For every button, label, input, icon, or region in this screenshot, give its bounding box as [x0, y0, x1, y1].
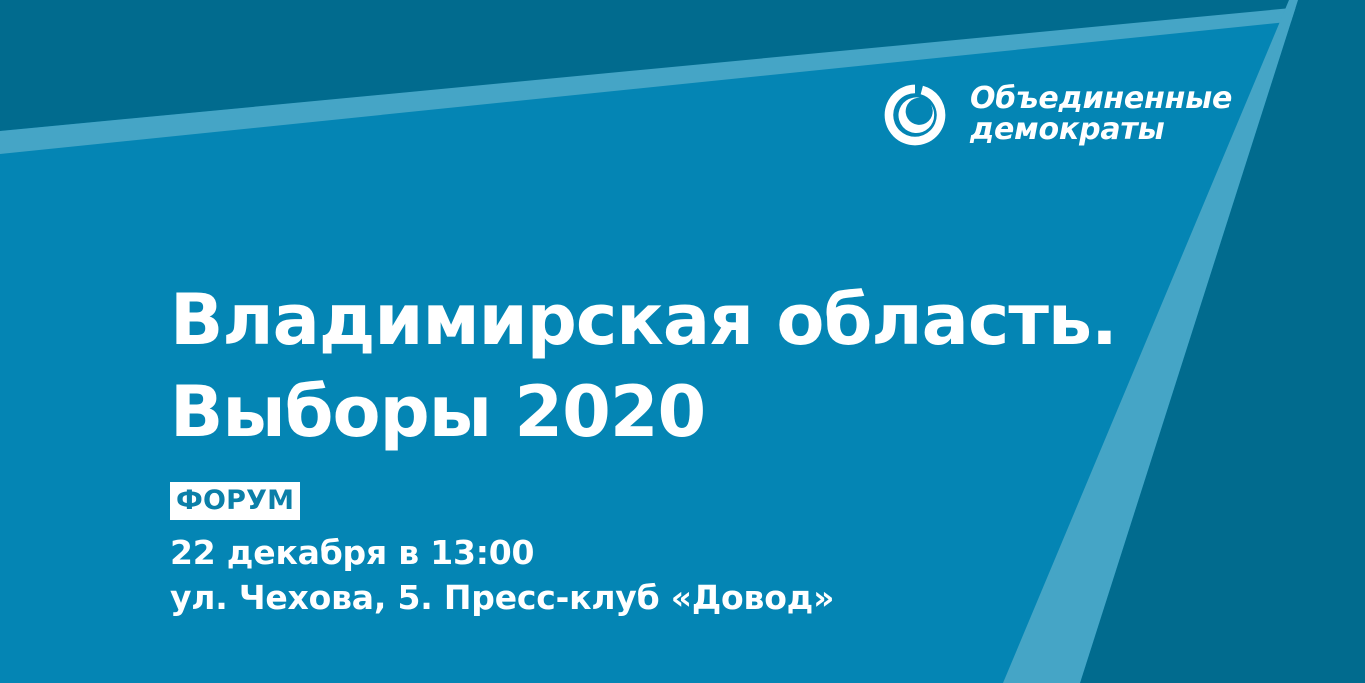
brand-logo: Объединенные демократы	[882, 82, 1232, 148]
brand-logo-line1: Объединенные	[970, 81, 1232, 116]
brand-logo-text: Объединенные демократы	[970, 84, 1232, 146]
event-type-badge: ФОРУМ	[170, 482, 300, 520]
page-title-line2: Выборы 2020	[170, 367, 1117, 459]
event-poster: Объединенные демократы Владимирская обла…	[0, 0, 1365, 683]
page-title-line1: Владимирская область.	[170, 275, 1117, 367]
event-details: ФОРУМ 22 декабря в 13:00 ул. Чехова, 5. …	[170, 482, 834, 620]
event-datetime: 22 декабря в 13:00	[170, 531, 834, 576]
page-title: Владимирская область. Выборы 2020	[170, 275, 1117, 458]
event-venue: ул. Чехова, 5. Пресс-клуб «Довод»	[170, 576, 834, 621]
spiral-circle-icon	[882, 82, 948, 148]
brand-logo-line2: демократы	[970, 115, 1232, 146]
